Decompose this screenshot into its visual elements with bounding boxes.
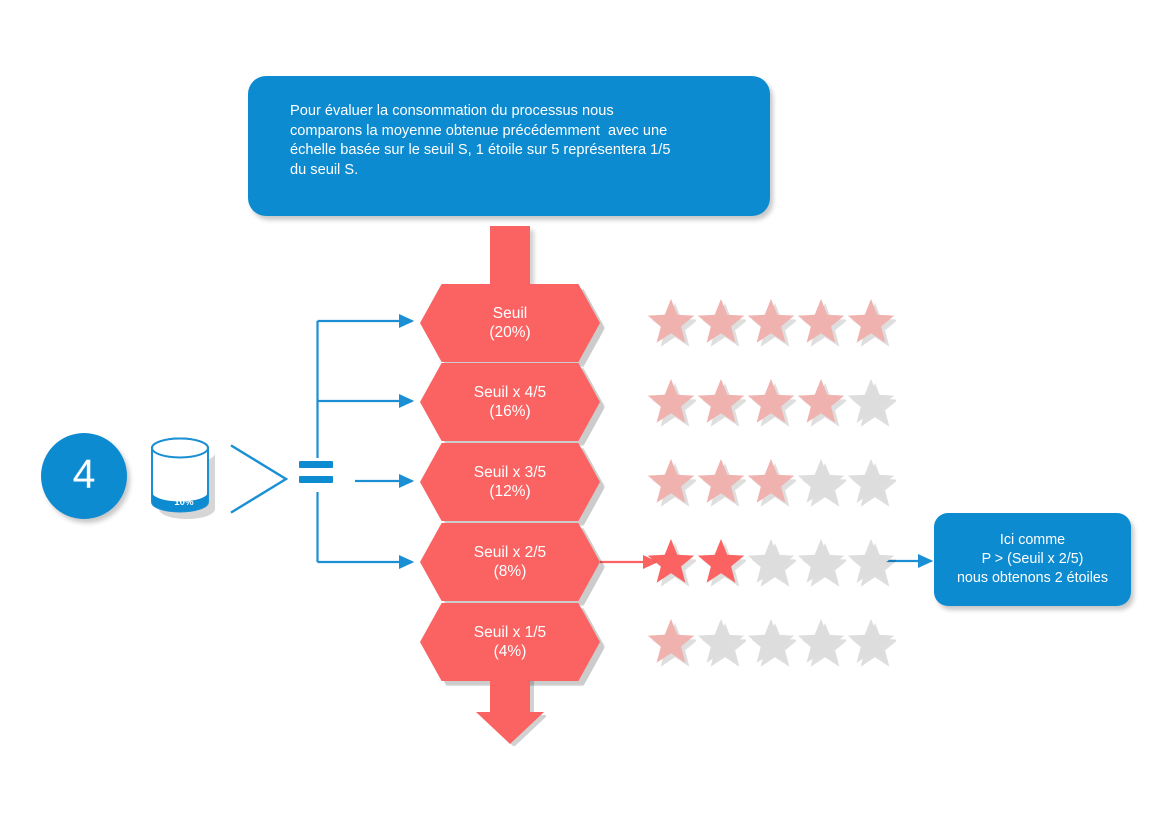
hex-shape-5: Seuil x 1/5 (4%) bbox=[420, 603, 600, 681]
star-icon bbox=[646, 536, 696, 590]
star-icon bbox=[646, 376, 696, 430]
star-icon bbox=[746, 456, 796, 510]
equals-bar-bottom bbox=[299, 476, 333, 483]
equals-bar-top bbox=[299, 461, 333, 468]
star-icon bbox=[846, 376, 896, 430]
star-icon bbox=[796, 616, 846, 670]
star-icon bbox=[846, 296, 896, 350]
flow-outlet-arrow bbox=[474, 678, 546, 746]
step-number-badge: 4 bbox=[41, 433, 127, 519]
hex-shape-3: Seuil x 3/5 (12%) bbox=[420, 443, 600, 521]
flow-inlet-shaft bbox=[490, 226, 530, 292]
result-line-1: Ici comme bbox=[1000, 531, 1065, 550]
equals-icon bbox=[299, 461, 333, 483]
threshold-level-3[interactable]: Seuil x 3/5 (12%) bbox=[420, 443, 600, 521]
hex-shape-4: Seuil x 2/5 (8%) bbox=[420, 523, 600, 601]
star-icon bbox=[746, 616, 796, 670]
star-row-level-2 bbox=[646, 376, 896, 430]
star-icon bbox=[846, 456, 896, 510]
threshold-level-4[interactable]: Seuil x 2/5 (8%) bbox=[420, 523, 600, 601]
threshold-value-1: (20%) bbox=[489, 323, 530, 342]
threshold-value-4: (8%) bbox=[494, 562, 527, 581]
star-icon bbox=[646, 456, 696, 510]
star-icon bbox=[746, 296, 796, 350]
threshold-value-3: (12%) bbox=[489, 482, 530, 501]
hex-shape-2: Seuil x 4/5 (16%) bbox=[420, 363, 600, 441]
greater-than-icon bbox=[228, 442, 292, 521]
star-row-level-5 bbox=[646, 616, 896, 670]
star-icon bbox=[746, 376, 796, 430]
cylinder-icon bbox=[148, 436, 220, 520]
star-icon bbox=[696, 616, 746, 670]
star-icon bbox=[846, 616, 896, 670]
consumption-cylinder-gauge: 10% bbox=[148, 436, 220, 520]
diagram-canvas: Pour évaluer la consommation du processu… bbox=[0, 0, 1169, 825]
threshold-scale-column: Seuil (20%) Seuil x 4/5 (16%) Seuil x 3/… bbox=[420, 284, 610, 680]
threshold-name-4: Seuil x 2/5 bbox=[474, 543, 546, 562]
star-icon bbox=[846, 536, 896, 590]
threshold-name-3: Seuil x 3/5 bbox=[474, 463, 546, 482]
star-icon bbox=[646, 616, 696, 670]
threshold-level-5[interactable]: Seuil x 1/5 (4%) bbox=[420, 603, 600, 681]
description-line-1: Pour évaluer la consommation du processu… bbox=[290, 102, 740, 122]
hex-shape-1: Seuil (20%) bbox=[420, 284, 600, 362]
star-icon bbox=[696, 296, 746, 350]
threshold-level-2[interactable]: Seuil x 4/5 (16%) bbox=[420, 363, 600, 441]
star-icon bbox=[796, 456, 846, 510]
star-icon bbox=[796, 296, 846, 350]
star-row-level-1 bbox=[646, 296, 896, 350]
description-callout: Pour évaluer la consommation du processu… bbox=[248, 76, 770, 216]
star-row-level-4 bbox=[646, 536, 896, 590]
star-icon bbox=[746, 536, 796, 590]
star-icon bbox=[646, 296, 696, 350]
threshold-level-1[interactable]: Seuil (20%) bbox=[420, 284, 600, 362]
star-icon bbox=[796, 536, 846, 590]
star-icon bbox=[696, 456, 746, 510]
threshold-name-5: Seuil x 1/5 bbox=[474, 623, 546, 642]
star-icon bbox=[696, 376, 746, 430]
result-line-2: P > (Seuil x 2/5) bbox=[982, 550, 1084, 569]
star-row-level-3 bbox=[646, 456, 896, 510]
star-icon bbox=[796, 376, 846, 430]
threshold-name-1: Seuil bbox=[493, 304, 527, 323]
threshold-name-2: Seuil x 4/5 bbox=[474, 383, 546, 402]
star-icon bbox=[696, 536, 746, 590]
step-number-label: 4 bbox=[73, 454, 96, 495]
result-line-3: nous obtenons 2 étoiles bbox=[957, 569, 1108, 588]
description-line-2: comparons la moyenne obtenue précédemmen… bbox=[290, 122, 740, 142]
description-line-4: du seuil S. bbox=[290, 161, 740, 181]
threshold-value-2: (16%) bbox=[489, 402, 530, 421]
result-callout: Ici comme P > (Seuil x 2/5) nous obtenon… bbox=[934, 513, 1131, 606]
description-line-3: échelle basée sur le seuil S, 1 étoile s… bbox=[290, 141, 740, 161]
threshold-value-5: (4%) bbox=[494, 642, 527, 661]
